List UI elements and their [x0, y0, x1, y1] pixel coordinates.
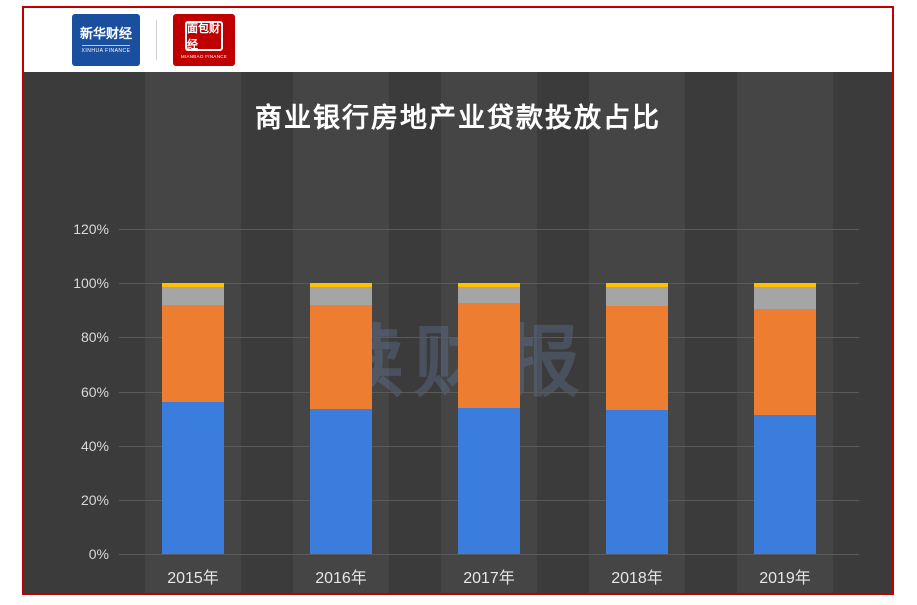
x-axis-tick-label: 2017年 — [463, 564, 515, 588]
chart-panel: 商业银行房地产业贷款投放占比 读财报 0%20%40%60%80%100%120… — [24, 72, 892, 593]
plot-area: 0%20%40%60%80%100%120%2015年2016年2017年201… — [119, 229, 859, 554]
bar-2019年[interactable] — [754, 283, 816, 554]
y-axis-tick-label: 40% — [81, 438, 109, 454]
bar-segment[interactable] — [754, 309, 816, 415]
bar-segment[interactable] — [606, 306, 668, 410]
chart-title: 商业银行房地产业贷款投放占比 — [24, 96, 892, 135]
bar-segment[interactable] — [606, 410, 668, 554]
bar-segment[interactable] — [162, 287, 224, 305]
x-axis-tick-label: 2016年 — [315, 564, 367, 588]
bar-segment[interactable] — [162, 283, 224, 287]
xinhua-finance-logo: 新华财经 XINHUA FINANCE — [72, 14, 140, 66]
bar-segment[interactable] — [458, 283, 520, 287]
gridline — [119, 229, 859, 230]
bar-segment[interactable] — [310, 283, 372, 287]
bar-segment[interactable] — [310, 305, 372, 409]
y-axis-tick-label: 100% — [73, 275, 109, 291]
bar-segment[interactable] — [606, 283, 668, 287]
logo-divider — [156, 20, 157, 60]
y-axis-tick-label: 20% — [81, 492, 109, 508]
logo-bar: 新华财经 XINHUA FINANCE 面包财经 MIANBAO FINANCE — [24, 8, 892, 72]
mianbao-finance-logo: 面包财经 MIANBAO FINANCE — [173, 14, 235, 66]
bar-segment[interactable] — [310, 287, 372, 305]
y-axis-tick-label: 80% — [81, 329, 109, 345]
x-axis-tick-label: 2015年 — [167, 564, 219, 588]
y-axis-tick-label: 0% — [89, 546, 109, 562]
bar-segment[interactable] — [458, 287, 520, 303]
bar-2017年[interactable] — [458, 283, 520, 554]
bar-2016年[interactable] — [310, 283, 372, 554]
x-axis-tick-label: 2018年 — [611, 564, 663, 588]
bar-segment[interactable] — [162, 402, 224, 554]
bar-segment[interactable] — [458, 303, 520, 407]
bar-segment[interactable] — [606, 287, 668, 306]
bar-segment[interactable] — [162, 305, 224, 403]
bar-2018年[interactable] — [606, 283, 668, 554]
mianbao-logo-cn: 面包财经 — [185, 21, 223, 51]
bar-segment[interactable] — [754, 287, 816, 309]
bar-2015年[interactable] — [162, 283, 224, 554]
gridline — [119, 554, 859, 555]
y-axis-tick-label: 120% — [73, 221, 109, 237]
screenshot-root: 新华财经 XINHUA FINANCE 面包财经 MIANBAO FINANCE… — [0, 0, 917, 605]
x-axis-tick-label: 2019年 — [759, 564, 811, 588]
bar-segment[interactable] — [754, 415, 816, 554]
logo-group: 新华财经 XINHUA FINANCE 面包财经 MIANBAO FINANCE — [72, 14, 235, 66]
bar-segment[interactable] — [310, 409, 372, 554]
xinhua-logo-cn: 新华财经 — [80, 26, 132, 41]
bar-segment[interactable] — [754, 283, 816, 287]
mianbao-logo-en: MIANBAO FINANCE — [181, 54, 227, 59]
y-axis-tick-label: 60% — [81, 384, 109, 400]
xinhua-logo-en: XINHUA FINANCE — [82, 45, 131, 54]
bar-segment[interactable] — [458, 408, 520, 554]
